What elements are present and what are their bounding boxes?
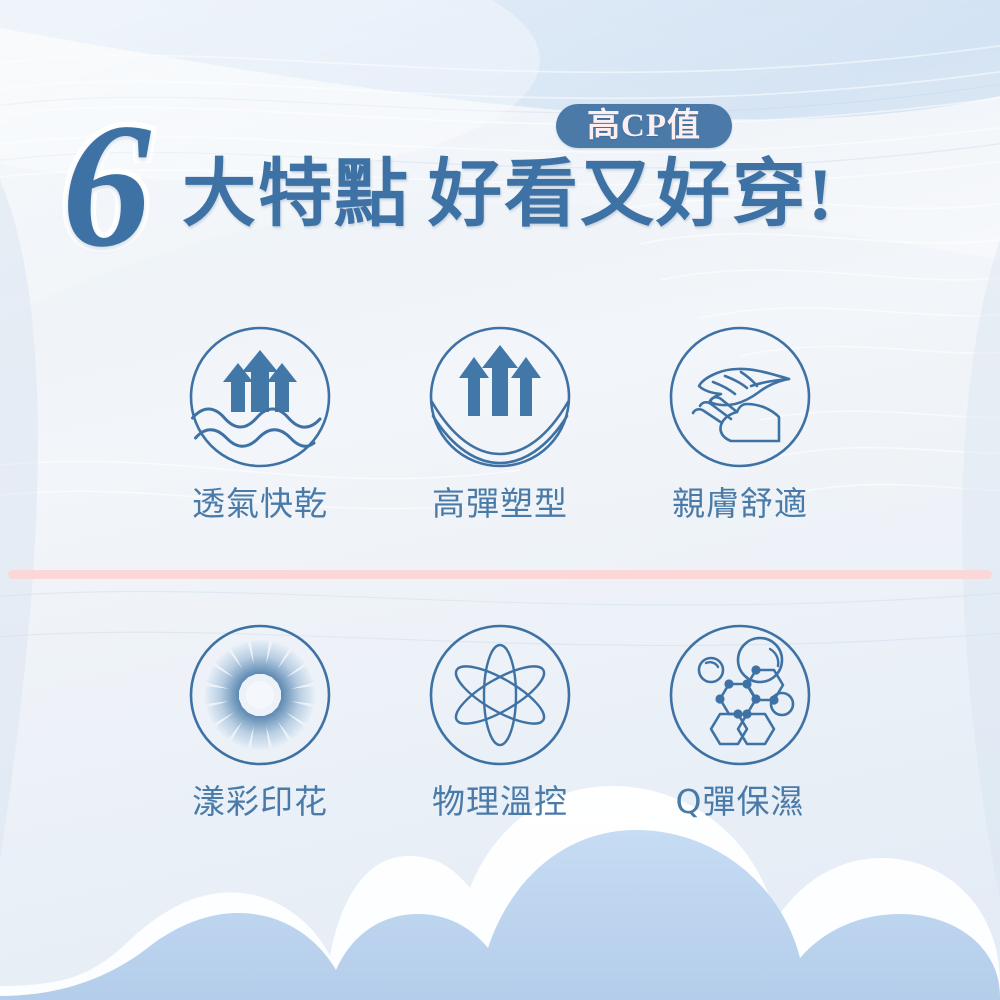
cp-value-badge: 高CP值: [556, 104, 732, 148]
feature-label: 透氣快乾: [192, 486, 328, 522]
headline-part-1: 大特點: [182, 154, 410, 236]
feature-item-breathable: 透氣快乾: [169, 324, 351, 522]
headline-area: 高CP值 6 大特點好看又好穿!: [0, 0, 1000, 300]
feather-on-hand-icon: [667, 324, 813, 470]
feature-label: 親膚舒適: [672, 486, 808, 522]
headline-part-2: 好看又好穿!: [428, 154, 835, 236]
page-title: 大特點好看又好穿!: [182, 158, 835, 232]
cp-value-badge-label: 高CP值: [587, 110, 701, 143]
bubbles-molecule-icon: [667, 622, 813, 768]
feature-item-print: 漾彩印花: [169, 622, 351, 820]
arrows-over-waves-icon: [187, 324, 333, 470]
feature-count-numeral: 6: [62, 96, 151, 274]
feature-row-1: 透氣快乾 高彈塑型: [0, 324, 1000, 522]
feature-item-elastic: 高彈塑型: [409, 324, 591, 522]
section-divider: [8, 570, 992, 579]
feature-label: 高彈塑型: [432, 486, 568, 522]
pinwheel-burst-icon: [187, 622, 333, 768]
feature-item-moisture: Q彈保濕: [649, 622, 831, 820]
feature-label: 物理溫控: [432, 784, 568, 820]
feature-item-thermal: 物理溫控: [409, 622, 591, 820]
promo-poster: 高CP值 6 大特點好看又好穿!: [0, 0, 1000, 1000]
feature-item-skin-friendly: 親膚舒適: [649, 324, 831, 522]
feature-row-2: 漾彩印花 物理溫控: [0, 622, 1000, 820]
cloud-front: [0, 830, 1000, 1000]
arrows-over-arcs-icon: [427, 324, 573, 470]
feature-label: 漾彩印花: [192, 784, 328, 820]
atom-orbits-icon: [427, 622, 573, 768]
feature-label: Q彈保濕: [676, 784, 805, 820]
